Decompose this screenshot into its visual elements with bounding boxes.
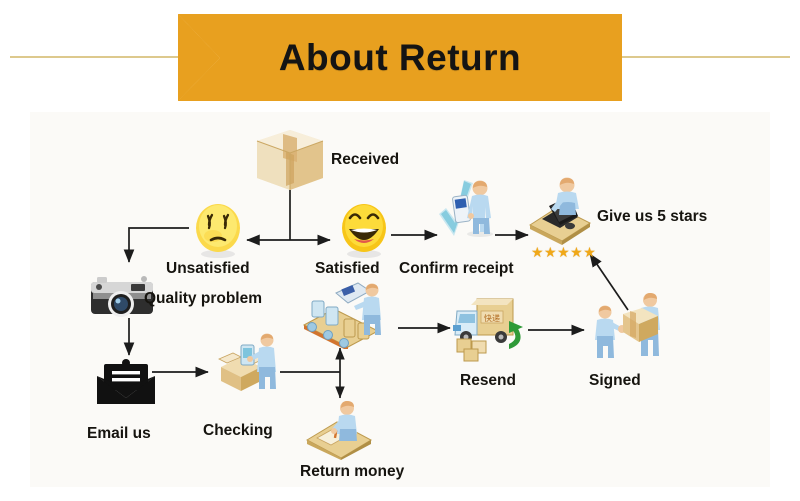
person-at-desk-icon <box>303 398 377 460</box>
conveyor-belt-icon <box>300 281 398 349</box>
happy-face-icon <box>337 203 391 259</box>
page-title: About Return <box>178 14 622 101</box>
label-signed: Signed <box>589 372 641 390</box>
label-give-stars: Give us 5 stars <box>597 208 707 226</box>
delivery-truck-icon: 快递 <box>451 291 529 363</box>
person-inspecting-box-icon <box>211 331 281 397</box>
rating-stars: ★★★★★ <box>531 245 596 259</box>
node-checking <box>211 331 281 397</box>
person-at-laptop-icon <box>524 173 594 245</box>
label-confirm-receipt: Confirm receipt <box>399 260 514 278</box>
label-resend: Resend <box>460 372 516 390</box>
node-signed <box>588 288 666 362</box>
node-confirm-receipt <box>437 178 499 254</box>
node-resend: 快递 <box>451 291 529 363</box>
sad-face-icon <box>191 203 245 259</box>
label-unsatisfied: Unsatisfied <box>166 260 250 278</box>
node-email-us <box>95 358 157 408</box>
node-received <box>253 128 327 192</box>
label-return-money: Return money <box>300 463 404 481</box>
checkmark-person-icon <box>437 178 499 254</box>
label-quality-problem: Quality problem <box>144 290 262 308</box>
node-unsatisfied <box>191 203 245 259</box>
node-sorting <box>300 281 398 349</box>
envelope-icon <box>95 358 157 408</box>
label-email-us: Email us <box>87 425 151 443</box>
node-satisfied <box>337 203 391 259</box>
label-satisfied: Satisfied <box>315 260 380 278</box>
node-return-money <box>303 398 377 460</box>
cardboard-box-icon <box>253 128 327 192</box>
label-checking: Checking <box>203 422 273 440</box>
handover-package-icon <box>588 288 666 362</box>
banner-rule-right <box>595 56 790 58</box>
label-received: Received <box>331 151 399 169</box>
svg-text:快递: 快递 <box>484 313 500 323</box>
banner-rule-left <box>10 56 205 58</box>
node-give-stars <box>524 173 594 245</box>
about-return-infographic: About Return <box>0 0 800 501</box>
